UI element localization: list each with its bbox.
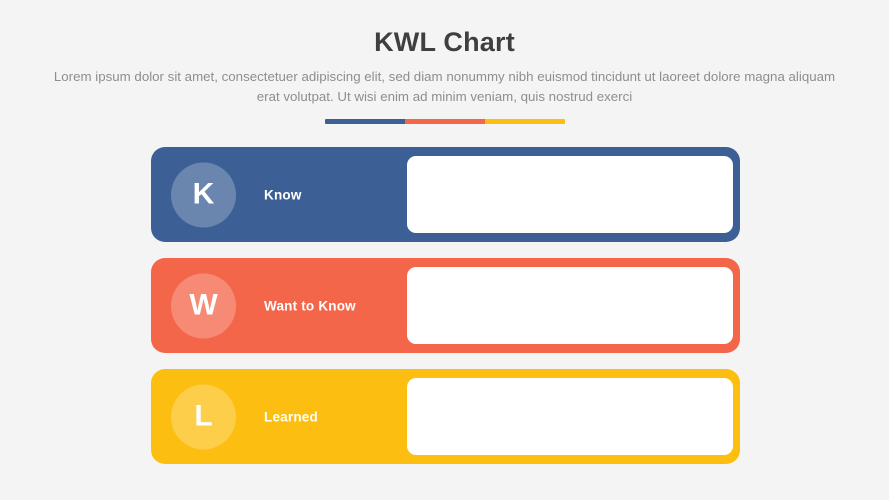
- content-box-learned[interactable]: [407, 378, 733, 455]
- kwl-row-want-to-know[interactable]: W Want to Know: [151, 258, 740, 353]
- row-label-learned: Learned: [264, 409, 318, 424]
- kwl-chart-slide: KWL Chart Lorem ipsum dolor sit amet, co…: [0, 0, 889, 500]
- content-box-know[interactable]: [407, 156, 733, 233]
- badge-circle-w: W: [171, 273, 236, 338]
- row-label-know: Know: [264, 187, 302, 202]
- divider-segment-orange: [405, 119, 485, 124]
- divider-segment-blue: [325, 119, 405, 124]
- divider-segment-yellow: [485, 119, 565, 124]
- badge-circle-k: K: [171, 162, 236, 227]
- accent-divider: [325, 119, 565, 124]
- row-label-want-to-know: Want to Know: [264, 298, 356, 313]
- badge-letter: W: [189, 291, 217, 321]
- badge-letter: L: [194, 402, 212, 432]
- header: KWL Chart Lorem ipsum dolor sit amet, co…: [0, 0, 889, 107]
- page-subtitle: Lorem ipsum dolor sit amet, consectetuer…: [50, 59, 840, 107]
- badge-letter: K: [193, 180, 215, 210]
- page-title: KWL Chart: [0, 0, 889, 59]
- kwl-row-list: K Know W Want to Know L Learned: [151, 147, 740, 464]
- badge-circle-l: L: [171, 384, 236, 449]
- kwl-row-know[interactable]: K Know: [151, 147, 740, 242]
- kwl-row-learned[interactable]: L Learned: [151, 369, 740, 464]
- content-box-want-to-know[interactable]: [407, 267, 733, 344]
